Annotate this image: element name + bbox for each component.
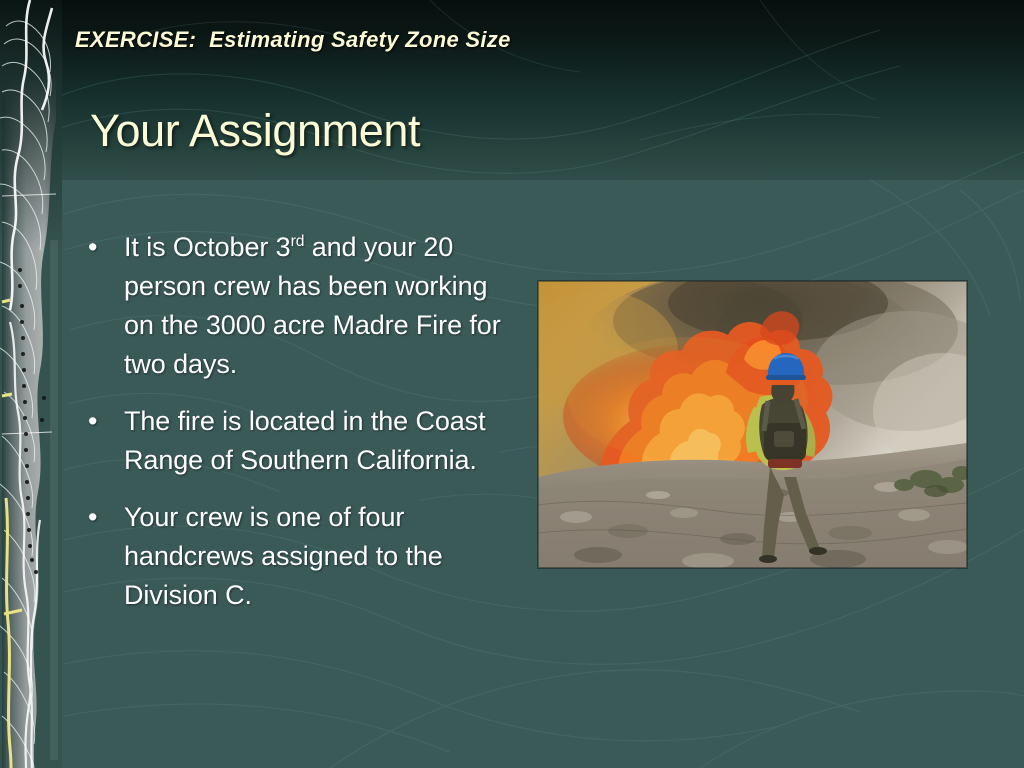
- list-item: • It is October 3rd and your 20 person c…: [84, 228, 504, 384]
- topographic-map-graphic: [0, 0, 62, 768]
- wildfire-firefighter-photo: [538, 281, 967, 568]
- bullet-list: • It is October 3rd and your 20 person c…: [84, 228, 504, 633]
- wildfire-photo-graphic: [538, 281, 967, 568]
- bullet-text-2: The fire is located in the Coast Range o…: [124, 406, 486, 475]
- bullet-1-superscript: rd: [291, 233, 305, 250]
- bullet-text-3: Your crew is one of four handcrews assig…: [124, 502, 443, 610]
- slide-canvas: EXERCISE: Estimating Safety Zone Size Yo…: [0, 0, 1024, 768]
- page-title: Your Assignment: [90, 105, 420, 157]
- bullet-1-pre: It is October 3: [124, 232, 291, 262]
- list-item: • The fire is located in the Coast Range…: [84, 402, 504, 480]
- bullet-text-1: It is October 3rd and your 20 person cre…: [124, 232, 501, 379]
- topographic-map-strip: [0, 0, 62, 768]
- list-item: • Your crew is one of four handcrews ass…: [84, 498, 504, 615]
- bullet-dot-icon: •: [88, 402, 97, 441]
- header-title: EXERCISE: Estimating Safety Zone Size: [75, 27, 511, 53]
- bullet-dot-icon: •: [88, 228, 97, 267]
- bullet-dot-icon: •: [88, 498, 97, 537]
